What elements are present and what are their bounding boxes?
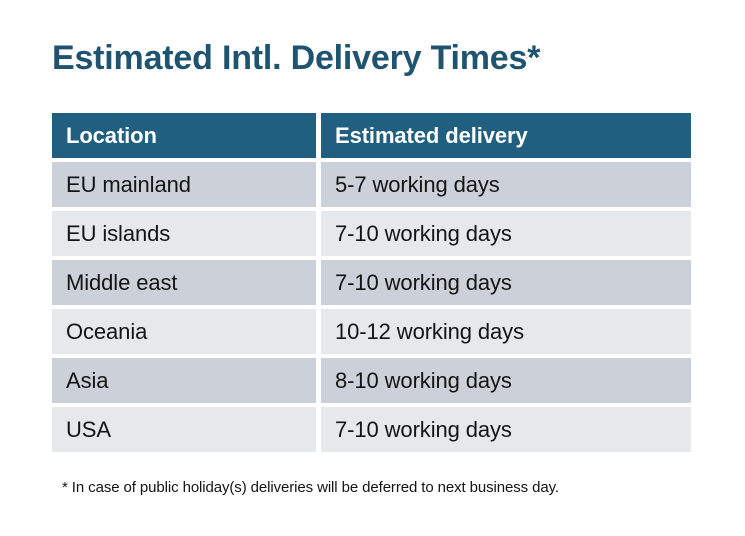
page-title: Estimated Intl. Delivery Times* <box>52 36 540 80</box>
table-row: Asia 8-10 working days <box>52 358 691 403</box>
cell-location: EU mainland <box>52 162 316 207</box>
table-header-row: Location Estimated delivery <box>52 113 691 158</box>
cell-delivery: 5-7 working days <box>321 162 691 207</box>
table-row: USA 7-10 working days <box>52 407 691 452</box>
table-row: EU islands 7-10 working days <box>52 211 691 256</box>
cell-location: Middle east <box>52 260 316 305</box>
column-header-estimated-delivery: Estimated delivery <box>321 113 691 158</box>
cell-delivery: 8-10 working days <box>321 358 691 403</box>
delivery-times-table: Location Estimated delivery EU mainland … <box>52 113 691 452</box>
cell-location: EU islands <box>52 211 316 256</box>
cell-delivery: 7-10 working days <box>321 211 691 256</box>
cell-location: Asia <box>52 358 316 403</box>
table-row: EU mainland 5-7 working days <box>52 162 691 207</box>
cell-delivery: 7-10 working days <box>321 407 691 452</box>
column-header-location: Location <box>52 113 316 158</box>
cell-location: Oceania <box>52 309 316 354</box>
cell-delivery: 10-12 working days <box>321 309 691 354</box>
cell-location: USA <box>52 407 316 452</box>
cell-delivery: 7-10 working days <box>321 260 691 305</box>
table-row: Oceania 10-12 working days <box>52 309 691 354</box>
document-page: Estimated Intl. Delivery Times* Location… <box>0 0 745 536</box>
footnote-text: * In case of public holiday(s) deliverie… <box>62 479 559 496</box>
table-row: Middle east 7-10 working days <box>52 260 691 305</box>
